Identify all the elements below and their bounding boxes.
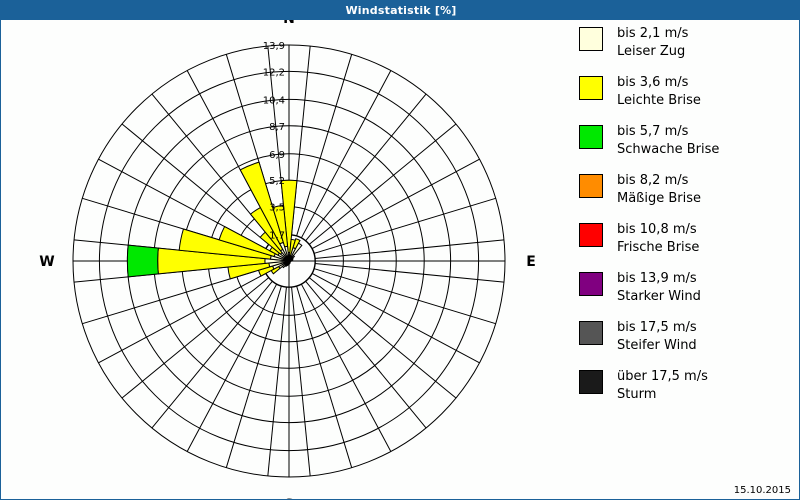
compass-label-west: W: [39, 254, 54, 270]
grid-spoke: [315, 264, 504, 283]
grid-spoke: [301, 284, 391, 452]
legend-speed-label: bis 2,1 m/s: [617, 26, 688, 41]
legend-speed-label: bis 3,6 m/s: [617, 75, 688, 90]
legend-name-label: Leichte Brise: [617, 92, 701, 110]
legend-color-swatch: [579, 125, 603, 149]
legend-color-swatch: [579, 272, 603, 296]
grid-spoke: [122, 124, 269, 245]
legend-speed-label: bis 5,7 m/s: [617, 124, 688, 139]
grid-spoke: [187, 284, 277, 452]
legend-speed-label: bis 17,5 m/s: [617, 320, 697, 335]
window-title: Windstatistik [%]: [345, 4, 456, 17]
legend: bis 2,1 m/sLeiser Zugbis 3,6 m/sLeichte …: [579, 25, 789, 417]
grid-spoke: [315, 240, 504, 259]
legend-label: bis 2,1 m/sLeiser Zug: [617, 25, 688, 61]
legend-color-swatch: [579, 370, 603, 394]
legend-name-label: Mäßige Brise: [617, 190, 701, 208]
legend-label: bis 3,6 m/sLeichte Brise: [617, 74, 701, 110]
legend-color-swatch: [579, 76, 603, 100]
grid-spoke: [268, 287, 287, 476]
legend-name-label: Steifer Wind: [617, 337, 697, 355]
legend-name-label: Sturm: [617, 386, 708, 404]
legend-label: über 17,5 m/sSturm: [617, 368, 708, 404]
grid-spoke: [122, 277, 269, 398]
legend-color-swatch: [579, 223, 603, 247]
legend-name-label: Starker Wind: [617, 288, 701, 306]
legend-label: bis 13,9 m/sStarker Wind: [617, 270, 701, 306]
grid-spoke: [312, 273, 480, 363]
grid-spoke: [312, 159, 480, 249]
grid-spoke: [314, 269, 496, 324]
legend-item[interactable]: bis 10,8 m/sFrische Brise: [579, 221, 789, 262]
window-title-bar: Windstatistik [%]: [1, 1, 800, 20]
grid-spoke: [226, 286, 281, 468]
compass-label-east: E: [526, 254, 536, 270]
grid-spoke: [309, 277, 456, 398]
legend-item[interactable]: bis 3,6 m/sLeichte Brise: [579, 74, 789, 115]
compass-label-south: S: [284, 497, 294, 499]
radial-tick-label: 1,7: [269, 231, 285, 242]
radial-tick-label: 6,9: [269, 150, 285, 161]
radial-tick-label: 12,2: [263, 67, 285, 78]
grid-spoke: [152, 281, 273, 428]
radial-tick-label: 10,4: [263, 95, 285, 106]
grid-spoke: [314, 198, 496, 253]
compass-label-north: N: [283, 20, 295, 27]
legend-item[interactable]: bis 17,5 m/sSteifer Wind: [579, 319, 789, 360]
grid-spoke: [301, 71, 391, 239]
legend-speed-label: über 17,5 m/s: [617, 369, 708, 384]
radial-tick-label: 8,7: [269, 122, 285, 133]
date-stamp: 15.10.2015: [734, 485, 791, 496]
radial-tick-label: 13,9: [263, 41, 285, 52]
legend-item[interactable]: bis 8,2 m/sMäßige Brise: [579, 172, 789, 213]
legend-speed-label: bis 8,2 m/s: [617, 173, 688, 188]
legend-color-swatch: [579, 27, 603, 51]
legend-item[interactable]: bis 13,9 m/sStarker Wind: [579, 270, 789, 311]
legend-name-label: Frische Brise: [617, 239, 699, 257]
windrose-sector: [127, 245, 158, 277]
grid-spoke: [305, 281, 426, 428]
radial-tick-label: 3,5: [269, 203, 285, 214]
grid-spoke: [309, 124, 456, 245]
grid-spoke: [292, 287, 311, 476]
legend-speed-label: bis 10,8 m/s: [617, 222, 697, 237]
legend-label: bis 10,8 m/sFrische Brise: [617, 221, 699, 257]
wind-statistics-window: Windstatistik [%] 1,73,55,26,98,710,412,…: [0, 0, 800, 500]
legend-item[interactable]: bis 5,7 m/sSchwache Brise: [579, 123, 789, 164]
radial-tick-label: 5,2: [269, 176, 285, 187]
legend-speed-label: bis 13,9 m/s: [617, 271, 697, 286]
grid-spoke: [297, 286, 352, 468]
legend-item[interactable]: bis 2,1 m/sLeiser Zug: [579, 25, 789, 66]
legend-label: bis 8,2 m/sMäßige Brise: [617, 172, 701, 208]
legend-color-swatch: [579, 321, 603, 345]
grid-spoke: [305, 94, 426, 241]
legend-color-swatch: [579, 174, 603, 198]
grid-spoke: [297, 54, 352, 236]
legend-label: bis 5,7 m/sSchwache Brise: [617, 123, 719, 159]
legend-name-label: Schwache Brise: [617, 141, 719, 159]
legend-label: bis 17,5 m/sSteifer Wind: [617, 319, 697, 355]
grid-spoke: [99, 273, 267, 363]
legend-item[interactable]: über 17,5 m/sSturm: [579, 368, 789, 409]
legend-name-label: Leiser Zug: [617, 43, 688, 61]
